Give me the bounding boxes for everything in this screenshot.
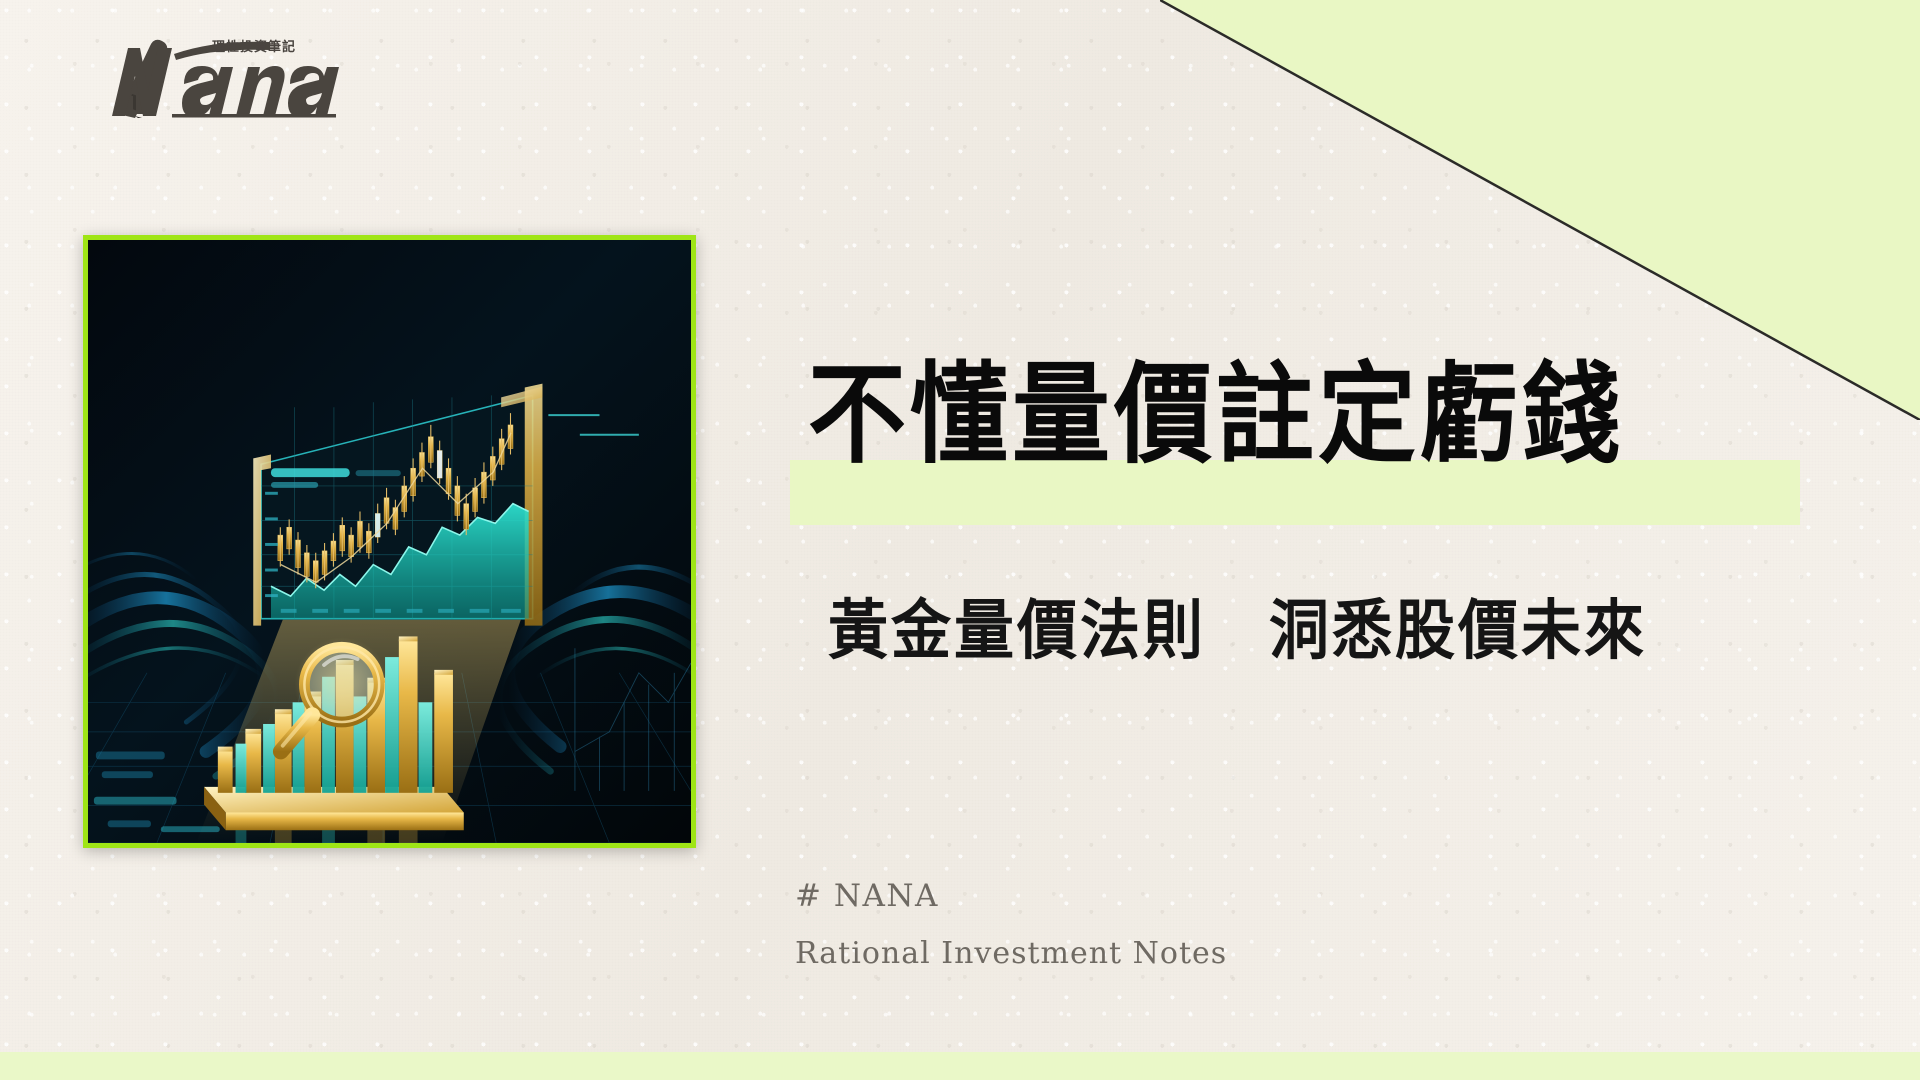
hero-illustration-icon [88, 240, 691, 843]
bottom-accent-band [0, 1052, 1920, 1080]
headline-container: 不懂量價註定虧錢 [790, 355, 1870, 535]
page-subtitle: 黃金量價法則 洞悉股價未來 [828, 578, 1647, 672]
hero-image [83, 235, 696, 848]
footer: # NANA Rational Investment Notes [795, 878, 1227, 971]
footer-subtitle: Rational Investment Notes [795, 936, 1227, 971]
brand-logo[interactable]: 理性投資筆記 [88, 28, 388, 118]
logo-tagline: 理性投資筆記 [212, 36, 296, 55]
footer-hashtag: # NANA [795, 878, 1227, 914]
page-title: 不懂量價註定虧錢 [808, 355, 1624, 478]
